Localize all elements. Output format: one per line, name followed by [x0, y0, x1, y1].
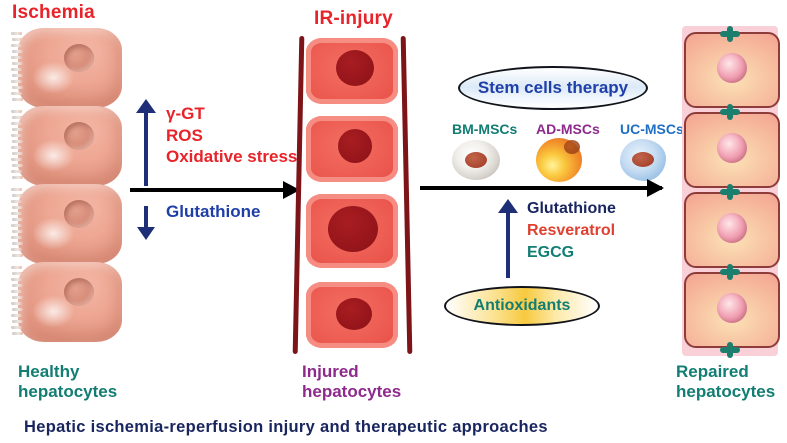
injured-hepatocytes-caption: Injured hepatocytes [302, 362, 401, 401]
mediator-ros: ROS [166, 126, 297, 146]
repaired-caption-line2: hepatocytes [676, 382, 775, 402]
progression-arrow-injury-to-repair [420, 186, 662, 190]
repaired-caption-line1: Repaired [676, 362, 775, 382]
cell-junction-icon [720, 184, 740, 200]
healthy-hepatocytes-caption: Healthy hepatocytes [18, 362, 117, 401]
antioxidant-agents-list: Glutathione Resveratrol EGCG [527, 198, 616, 264]
repaired-hepatocyte-column [682, 26, 782, 356]
bone-marrow-msc-icon [452, 140, 500, 180]
cell-nucleus [717, 133, 747, 163]
umbilical-cord-msc-icon [620, 139, 666, 181]
healthy-hepatocyte-cell [18, 262, 122, 342]
injured-caption-line2: hepatocytes [302, 382, 401, 402]
mediator-oxidative-stress: Oxidative stress [166, 147, 297, 167]
mediator-gamma-gt: γ-GT [166, 104, 297, 124]
repaired-hepatocyte-cell [684, 112, 780, 188]
healthy-hepatocyte-cell [18, 106, 122, 186]
upregulated-mediators-list: γ-GT ROS Oxidative stress [166, 104, 297, 169]
upregulation-arrow-icon [144, 112, 148, 186]
cell-nucleus [328, 206, 378, 252]
repaired-hepatocyte-cell [684, 272, 780, 348]
agent-resveratrol: Resveratrol [527, 220, 616, 242]
microvilli-icon [11, 32, 23, 104]
injured-hepatocyte-cell [306, 194, 398, 268]
healthy-hepatocyte-column [10, 28, 125, 358]
cell-nucleus [64, 44, 94, 72]
repaired-hepatocytes-caption: Repaired hepatocytes [676, 362, 775, 401]
injured-hepatocyte-column [288, 34, 413, 359]
injured-hepatocyte-cell [306, 38, 398, 104]
cell-junction-icon [720, 26, 740, 42]
microvilli-icon [11, 188, 23, 260]
stem-cells-therapy-label: Stem cells therapy [478, 78, 628, 98]
cell-nucleus [336, 50, 374, 86]
adipose-msc-icon [536, 138, 582, 182]
stem-cells-therapy-badge[interactable]: Stem cells therapy [458, 66, 648, 110]
downregulated-mediators-list: Glutathione [166, 202, 260, 222]
cell-nucleus [717, 293, 747, 323]
ir-injury-title: IR-injury [314, 8, 393, 30]
downregulation-arrow-icon [144, 206, 148, 228]
healthy-caption-line1: Healthy [18, 362, 117, 382]
ad-msc-label: AD-MSCs [536, 121, 600, 137]
cell-nucleus [64, 278, 94, 306]
microvilli-icon [11, 110, 23, 182]
microvilli-icon [11, 266, 23, 338]
cell-junction-icon [720, 264, 740, 280]
healthy-hepatocyte-cell [18, 184, 122, 264]
injured-hepatocyte-cell [306, 282, 398, 348]
repaired-hepatocyte-cell [684, 32, 780, 108]
bm-msc-label: BM-MSCs [452, 121, 517, 137]
progression-arrow-ischemia-to-injury [130, 188, 298, 192]
cell-nucleus [64, 122, 94, 150]
cell-junction-icon [720, 342, 740, 358]
cell-nucleus [717, 213, 747, 243]
healthy-caption-line2: hepatocytes [18, 382, 117, 402]
antioxidant-effect-arrow-icon [506, 212, 510, 278]
repaired-hepatocyte-cell [684, 192, 780, 268]
agent-egcg: EGCG [527, 242, 616, 264]
damaged-membrane-left [293, 36, 305, 354]
antioxidants-label: Antioxidants [474, 297, 571, 315]
figure-caption: Hepatic ischemia-reperfusion injury and … [24, 418, 548, 437]
cell-nucleus [336, 298, 372, 330]
figure-canvas: Ischemia IR-injury [0, 0, 787, 443]
cell-junction-icon [720, 104, 740, 120]
damaged-membrane-right [401, 36, 413, 354]
cell-nucleus [465, 152, 487, 168]
lipid-droplet-icon [564, 140, 580, 154]
injured-hepatocyte-cell [306, 116, 398, 182]
antioxidants-badge[interactable]: Antioxidants [444, 286, 600, 326]
mediator-glutathione: Glutathione [166, 202, 260, 222]
cell-nucleus [338, 129, 372, 163]
uc-msc-label: UC-MSCs [620, 121, 684, 137]
cell-nucleus [632, 152, 654, 167]
agent-glutathione: Glutathione [527, 198, 616, 220]
injured-caption-line1: Injured [302, 362, 401, 382]
ischemia-title: Ischemia [12, 2, 95, 24]
cell-nucleus [717, 53, 747, 83]
cell-nucleus [64, 200, 94, 228]
healthy-hepatocyte-cell [18, 28, 122, 108]
